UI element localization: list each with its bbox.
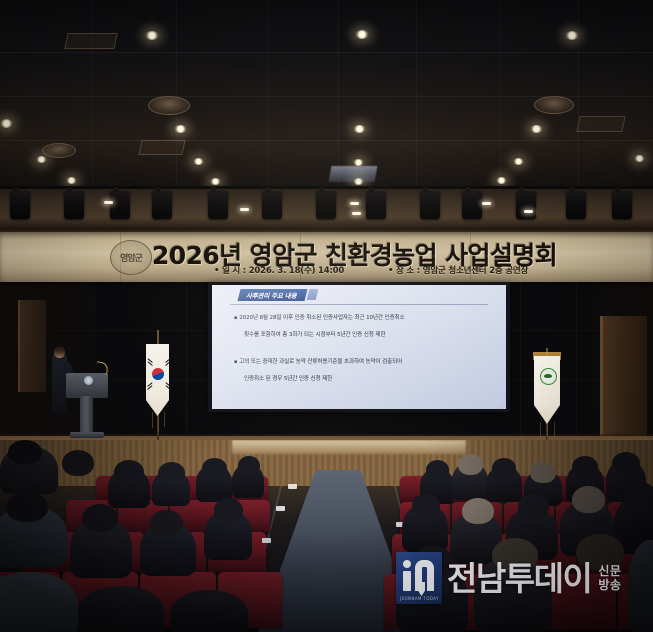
audience-head xyxy=(158,462,185,484)
slide-line-text: 2020년 8월 28일 이후 인증 취소된 인증사업자는 최근 10년간 인증… xyxy=(239,315,404,321)
projection-screen-frame: 사후관리 주요 내용 ▪2020년 8월 28일 이후 인증 취소된 인증사업자… xyxy=(208,282,510,412)
ceiling-downlight xyxy=(355,30,369,39)
projector-housing xyxy=(329,166,378,182)
ceiling-downlight xyxy=(634,155,645,162)
audience-member xyxy=(170,590,248,632)
stage-light xyxy=(612,191,632,219)
watermark-logo: JEONNAM TODAY 전남투데이 신문 방송 xyxy=(396,552,621,604)
stage-light xyxy=(10,191,30,219)
audience-head xyxy=(6,492,48,522)
slide-bullet-line: ▪고의 또는 중대한 과실로 농약 잔류허용기준을 초과하여 농약이 검출되어 xyxy=(234,357,402,365)
ceiling-can-light xyxy=(42,143,76,158)
speaker-head xyxy=(54,346,65,358)
ceiling-can-light xyxy=(148,96,190,115)
stage-light xyxy=(64,191,84,219)
slide-bullet-icon: ▪ xyxy=(234,359,237,365)
audience-head xyxy=(572,486,605,513)
audience-head xyxy=(62,450,94,476)
stage-door-left xyxy=(18,300,46,392)
audience-head xyxy=(8,440,42,464)
ceiling-downlight xyxy=(530,125,543,133)
auditorium-photo: 영암군 2026년 영암군 친환경농업 사업설명회 • 일 시 : 2026. … xyxy=(0,0,653,632)
taeguk-symbol-icon xyxy=(152,368,164,380)
ceiling-downlight xyxy=(565,31,579,40)
slide-continuation-line: 인증취소 된 경우 5년간 인증 신청 제한 xyxy=(244,374,332,382)
audience-member xyxy=(78,586,164,632)
watermark-sub-newspaper: 신문 xyxy=(598,565,621,577)
stage-light xyxy=(152,191,172,219)
ceiling-downlight xyxy=(193,158,204,165)
stage-light xyxy=(566,191,586,219)
audience-head xyxy=(518,494,549,520)
county-emblem-label: 영암군 xyxy=(120,251,142,264)
ceiling xyxy=(0,0,653,186)
watermark-sub-broadcast: 방송 xyxy=(598,579,621,591)
stage-light xyxy=(420,191,440,219)
stage-light xyxy=(366,191,386,219)
podium-stem xyxy=(80,396,93,436)
organization-emblem-icon xyxy=(540,368,557,385)
audience-head xyxy=(150,510,183,536)
audience-head xyxy=(458,454,483,475)
ceiling-vent xyxy=(576,116,625,132)
audience-head xyxy=(426,460,449,480)
jeonnam-today-logo-icon: JEONNAM TODAY xyxy=(396,552,442,604)
seat-row-card xyxy=(288,484,297,489)
audience-head xyxy=(238,456,260,475)
stage-lighting-truss xyxy=(0,186,653,228)
slide-line-text: 인증취소 된 경우 5년간 인증 신청 제한 xyxy=(244,376,332,382)
stage-light xyxy=(462,191,482,219)
audience-head xyxy=(412,494,440,517)
ceiling-downlight xyxy=(496,177,507,184)
slide-title-band: 사후관리 주요 내용 xyxy=(238,289,308,301)
audience-head xyxy=(624,482,653,508)
stage-light xyxy=(262,191,282,219)
audience-head xyxy=(82,504,118,532)
ceiling-downlight xyxy=(145,31,159,40)
stage-light xyxy=(110,191,130,219)
banner-place-label: • 장 소 : 영암군 청소년센터 2층 공연장 xyxy=(388,264,528,276)
ceiling-downlight xyxy=(513,158,524,165)
slide-continuation-line: 횟수를 포함하여 총 3회가 되는 시점부터 5년간 인증 신청 제한 xyxy=(244,330,385,338)
slide-line-text: 고의 또는 중대한 과실로 농약 잔류허용기준을 초과하여 농약이 검출되어 xyxy=(239,359,402,365)
stage-door-right xyxy=(600,316,647,440)
ceiling-downlight xyxy=(353,125,366,133)
ceiling-can-light xyxy=(534,96,574,114)
audience-head xyxy=(612,452,640,474)
slide-bullet-icon: ▪ xyxy=(234,315,237,321)
ceiling-downlight xyxy=(66,177,77,184)
audience-head xyxy=(462,498,494,524)
ceiling-downlight xyxy=(0,119,13,128)
ceiling-downlight xyxy=(36,156,47,163)
audience-head xyxy=(114,460,144,484)
audience-head xyxy=(202,458,227,478)
ceiling-vent xyxy=(64,33,117,49)
podium-base xyxy=(70,432,104,438)
seat-row-card xyxy=(262,538,271,543)
banner-date-label: • 일 시 : 2026. 3. 18(수) 14:00 xyxy=(214,264,344,276)
stage-light xyxy=(208,191,228,219)
audience-head xyxy=(530,462,556,483)
audience-head xyxy=(214,498,243,522)
stage-light xyxy=(316,191,336,219)
speaker-person xyxy=(52,352,67,414)
slide-title: 사후관리 주요 내용 xyxy=(246,290,296,300)
watermark-subtitles: 신문 방송 xyxy=(598,565,621,591)
slide-bullet-line: ▪2020년 8월 28일 이후 인증 취소된 인증사업자는 최근 10년간 인… xyxy=(234,313,405,321)
slide-line-text: 횟수를 포함하여 총 3회가 되는 시점부터 5년간 인증 신청 제한 xyxy=(244,332,385,338)
ceiling-downlight xyxy=(210,178,221,185)
ceiling-downlight xyxy=(174,125,187,133)
audience-head xyxy=(492,458,516,478)
audience-head xyxy=(572,456,598,477)
projection-screen: 사후관리 주요 내용 ▪2020년 8월 28일 이후 인증 취소된 인증사업자… xyxy=(212,285,506,409)
stage-light xyxy=(516,191,536,219)
watermark-name: 전남투데이 xyxy=(447,562,591,595)
county-emblem-icon: 영암군 xyxy=(110,240,152,275)
podium-light-icon xyxy=(84,376,93,385)
ceiling-vent xyxy=(138,140,185,155)
ceiling-downlight xyxy=(353,159,364,166)
seat-row-card xyxy=(276,506,285,511)
logo-mini-text: JEONNAM TODAY xyxy=(400,596,439,601)
